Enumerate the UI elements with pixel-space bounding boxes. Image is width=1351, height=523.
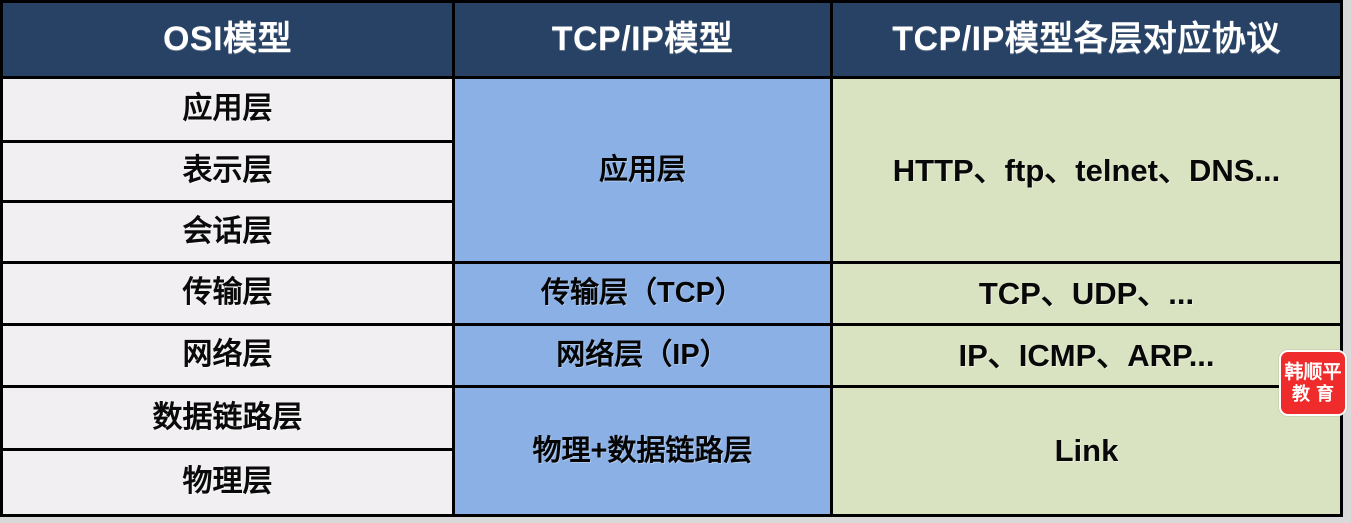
osi-layer-presentation: 表示层 — [2, 141, 454, 201]
table-row: 数据链路层 物理+数据链路层 Link — [2, 387, 1342, 449]
osi-layer-physical: 物理层 — [2, 449, 454, 515]
osi-layer-session: 会话层 — [2, 202, 454, 263]
watermark-logo: 韩顺平 教育 — [1279, 350, 1347, 416]
osi-layer-data-link: 数据链路层 — [2, 387, 454, 449]
table-row: 网络层 网络层（IP） IP、ICMP、ARP... — [2, 324, 1342, 386]
header-cell-osi-model: OSI模型 — [2, 2, 454, 78]
osi-layer-application: 应用层 — [2, 78, 454, 141]
table-row: 应用层 应用层 HTTP、ftp、telnet、DNS... — [2, 78, 1342, 141]
header-cell-tcpip-model: TCP/IP模型 — [454, 2, 832, 78]
slide-canvas: OSI模型 TCP/IP模型 TCP/IP模型各层对应协议 应用层 应用层 HT… — [0, 0, 1351, 523]
table-row: 传输层 传输层（TCP） TCP、UDP、... — [2, 263, 1342, 324]
table-header-row: OSI模型 TCP/IP模型 TCP/IP模型各层对应协议 — [2, 2, 1342, 78]
tcpip-layer-physical-datalink: 物理+数据链路层 — [454, 387, 832, 516]
protocols-application: HTTP、ftp、telnet、DNS... — [832, 78, 1342, 263]
protocols-link: Link — [832, 387, 1342, 516]
protocols-transport: TCP、UDP、... — [832, 263, 1342, 324]
osi-layer-transport: 传输层 — [2, 263, 454, 324]
tcpip-layer-application: 应用层 — [454, 78, 832, 263]
tcpip-layer-transport: 传输层（TCP） — [454, 263, 832, 324]
watermark-line2: 教育 — [1286, 384, 1340, 404]
watermark-line1: 韩顺平 — [1284, 362, 1341, 383]
header-cell-tcpip-protocols: TCP/IP模型各层对应协议 — [832, 2, 1342, 78]
tcpip-layer-network: 网络层（IP） — [454, 324, 832, 386]
osi-layer-network: 网络层 — [2, 324, 454, 386]
protocols-network: IP、ICMP、ARP... — [832, 324, 1342, 386]
osi-tcpip-comparison-table: OSI模型 TCP/IP模型 TCP/IP模型各层对应协议 应用层 应用层 HT… — [0, 0, 1343, 517]
